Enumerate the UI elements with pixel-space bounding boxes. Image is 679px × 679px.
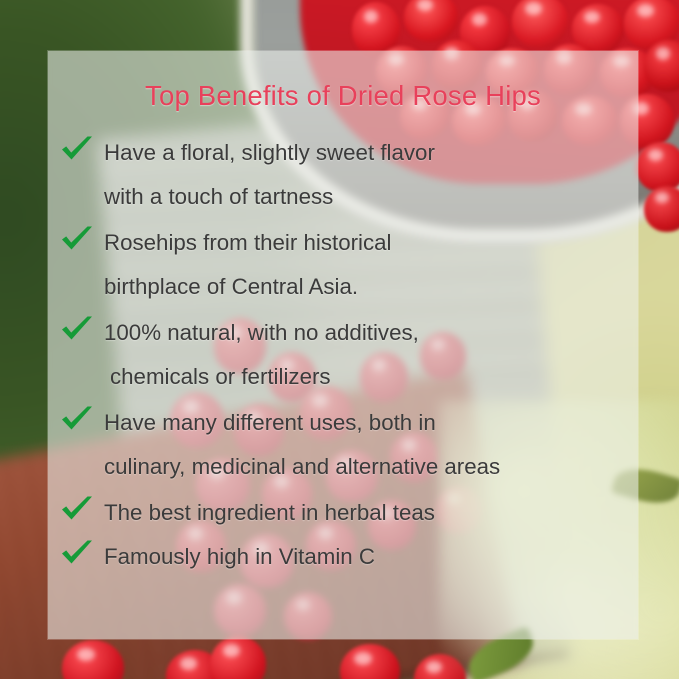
- list-item-line: Have many different uses, both in: [104, 401, 630, 445]
- list-item-text: Have a floral, slightly sweet flavor wit…: [104, 131, 630, 219]
- list-item: Rosehips from their historical birthplac…: [60, 221, 630, 309]
- check-icon: [60, 311, 104, 344]
- list-item-line: culinary, medicinal and alternative area…: [104, 445, 630, 489]
- list-item-line: 100% natural, with no additives,: [104, 311, 630, 355]
- list-item-line: chemicals or fertilizers: [104, 355, 630, 399]
- list-item: Famously high in Vitamin C: [60, 535, 630, 579]
- list-item-line: Rosehips from their historical: [104, 221, 630, 265]
- benefits-panel: Top Benefits of Dried Rose Hips Have a f…: [48, 51, 638, 639]
- list-item-line: birthplace of Central Asia.: [104, 265, 630, 309]
- list-item: 100% natural, with no additives, chemica…: [60, 311, 630, 399]
- check-icon: [60, 491, 104, 524]
- list-item-line: with a touch of tartness: [104, 175, 630, 219]
- list-item-text: Have many different uses, both in culina…: [104, 401, 630, 489]
- list-item-text: The best ingredient in herbal teas: [104, 491, 630, 535]
- list-item-text: 100% natural, with no additives, chemica…: [104, 311, 630, 399]
- list-item-line: Famously high in Vitamin C: [104, 535, 630, 579]
- list-item: The best ingredient in herbal teas: [60, 491, 630, 535]
- list-item: Have a floral, slightly sweet flavor wit…: [60, 131, 630, 219]
- page-title: Top Benefits of Dried Rose Hips: [48, 80, 638, 112]
- list-item-line: The best ingredient in herbal teas: [104, 491, 630, 535]
- rose-hip: [644, 186, 679, 232]
- check-icon: [60, 221, 104, 254]
- check-icon: [60, 131, 104, 164]
- list-item-text: Famously high in Vitamin C: [104, 535, 630, 579]
- check-icon: [60, 535, 104, 568]
- list-item-text: Rosehips from their historical birthplac…: [104, 221, 630, 309]
- list-item-line: Have a floral, slightly sweet flavor: [104, 140, 435, 165]
- rose-hip: [512, 0, 568, 48]
- list-item: Have many different uses, both in culina…: [60, 401, 630, 489]
- rose-hip: [636, 142, 679, 192]
- benefits-list: Have a floral, slightly sweet flavor wit…: [60, 131, 630, 579]
- check-icon: [60, 401, 104, 434]
- poster-image: Top Benefits of Dried Rose Hips Have a f…: [0, 0, 679, 679]
